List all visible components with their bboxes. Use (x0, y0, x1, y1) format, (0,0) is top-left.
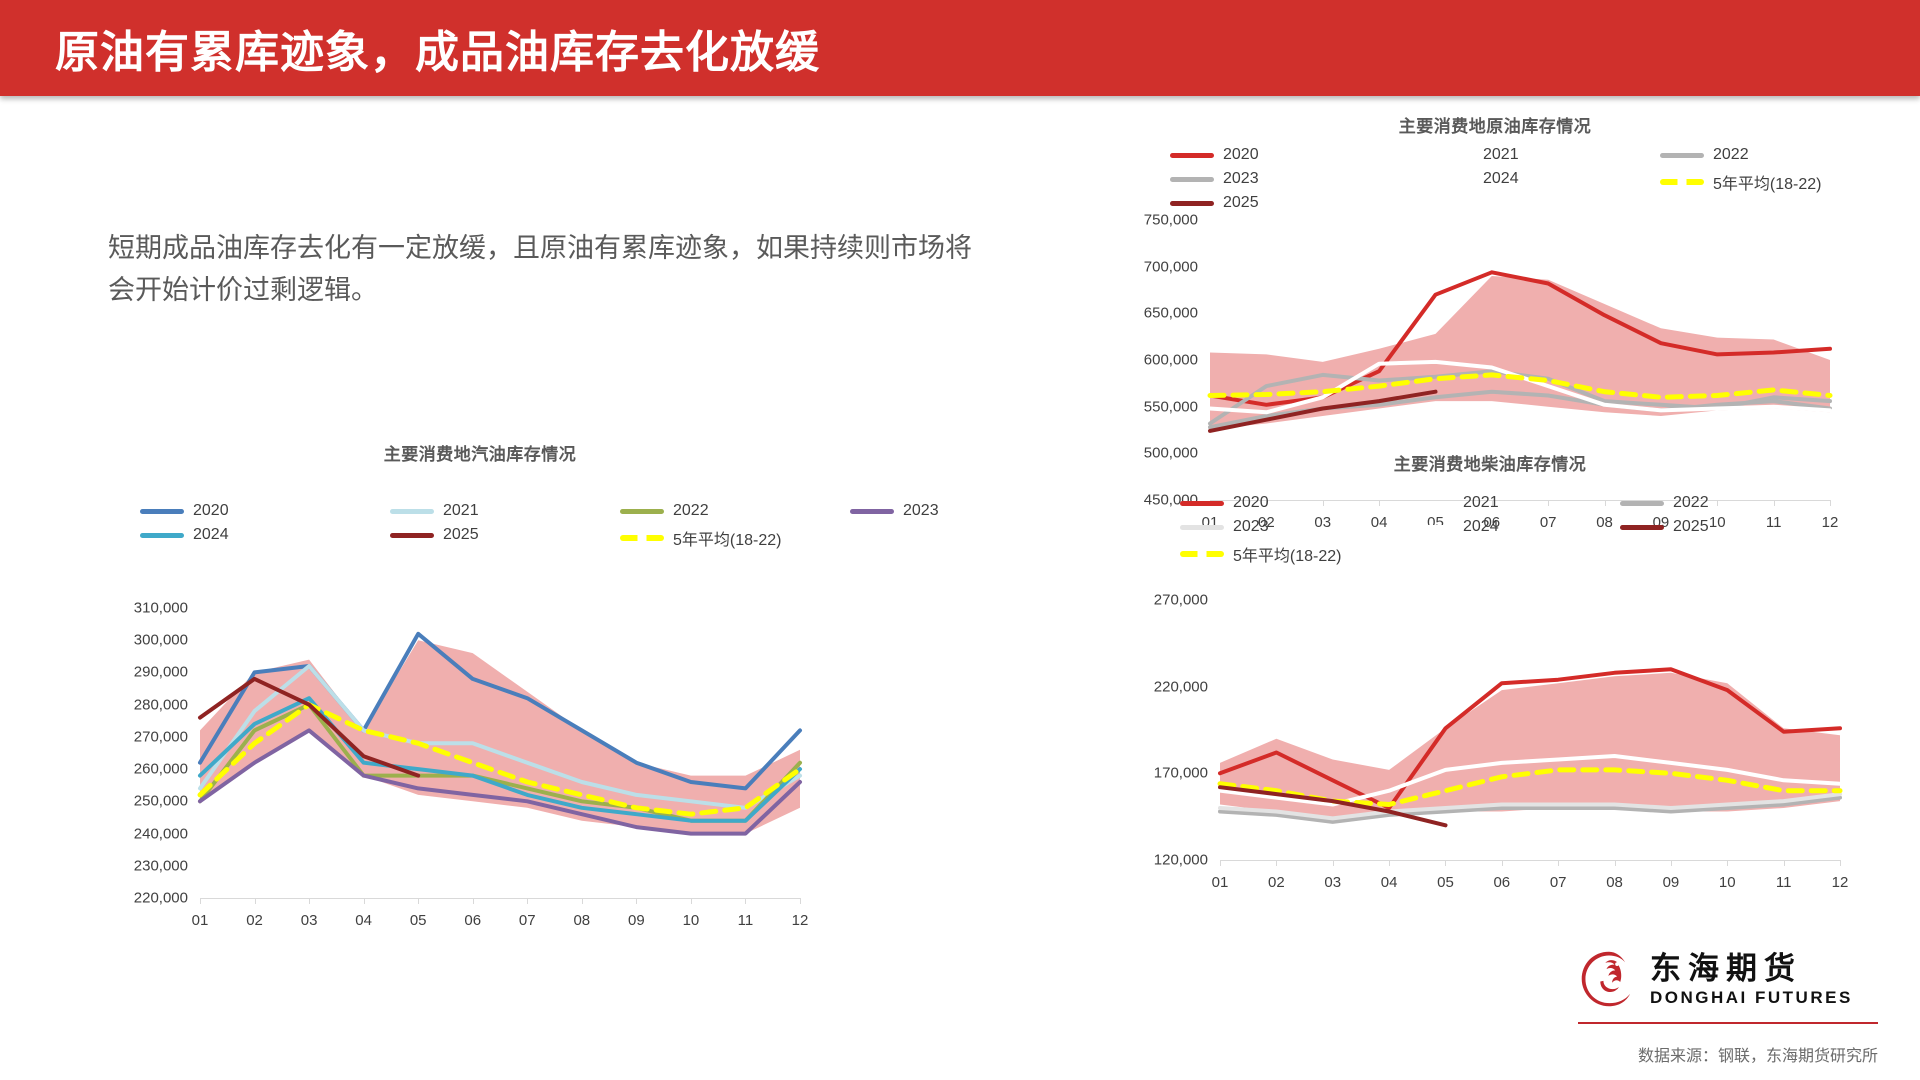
y-axis-tick-label: 230,000 (134, 857, 188, 874)
x-axis-tick-label: 05 (1437, 874, 1454, 891)
page-title: 原油有累库迹象，成品油库存去化放缓 (55, 16, 820, 80)
legend-label: 2023 (903, 502, 939, 520)
legend-item[interactable]: 2021 (1430, 146, 1519, 164)
chart-title: 主要消费地原油库存情况 (1100, 112, 1890, 137)
x-axis-tick-label: 11 (738, 912, 754, 929)
y-axis-tick-label: 650,000 (1144, 305, 1198, 322)
legend-item[interactable]: 2023 (1180, 518, 1269, 536)
legend-item[interactable]: 2020 (1180, 494, 1269, 512)
x-axis-line (200, 898, 800, 899)
x-axis-tick-label: 02 (1268, 874, 1285, 891)
legend-swatch-2024 (1430, 177, 1474, 182)
x-axis-line (1220, 860, 1840, 861)
x-axis-tick (636, 898, 637, 904)
slide-title-bar: 原油有累库迹象，成品油库存去化放缓 (0, 0, 1920, 96)
logo-english-name: DONGHAI FUTURES (1650, 989, 1853, 1006)
logo-divider (1578, 1022, 1878, 1024)
chart-plot-area: 120,000170,000220,000270,000010203040506… (1220, 600, 1840, 860)
legend-label: 2025 (1223, 194, 1259, 212)
legend-swatch-2020 (140, 509, 184, 514)
x-axis-tick (255, 898, 256, 904)
legend-item[interactable]: 2024 (140, 526, 229, 544)
legend-swatch-2024 (1410, 525, 1454, 530)
x-axis-tick (691, 898, 692, 904)
legend-item[interactable]: 2023 (850, 502, 939, 520)
legend-item[interactable]: 2020 (1170, 146, 1259, 164)
x-axis-tick (1840, 860, 1841, 866)
x-axis-tick-label: 08 (573, 912, 590, 929)
y-axis-tick-label: 220,000 (1154, 678, 1208, 695)
chart-legend: 2020202120222023202420255年平均(18-22) (60, 502, 900, 572)
legend-item[interactable]: 2025 (1170, 194, 1259, 212)
x-axis-tick (473, 898, 474, 904)
x-axis-tick-label: 05 (410, 912, 427, 929)
legend-item[interactable]: 2025 (390, 526, 479, 544)
legend-label: 2025 (1673, 518, 1709, 536)
legend-swatch-2024 (140, 533, 184, 538)
logo-wordmark: 东海期货 DONGHAI FUTURES (1650, 953, 1853, 1006)
x-axis-tick (309, 898, 310, 904)
dragon-logo-icon (1578, 948, 1640, 1010)
x-axis-tick-label: 07 (519, 912, 536, 929)
y-axis-tick-label: 170,000 (1154, 765, 1208, 782)
legend-label: 2023 (1233, 518, 1269, 536)
legend-item[interactable]: 2024 (1410, 518, 1499, 536)
x-axis-tick-label: 04 (1381, 874, 1398, 891)
legend-swatch-2025 (1170, 201, 1214, 206)
y-axis-tick-label: 310,000 (134, 600, 188, 617)
x-axis-tick-label: 02 (246, 912, 263, 929)
legend-item[interactable]: 2021 (1410, 494, 1499, 512)
y-axis-tick-label: 260,000 (134, 761, 188, 778)
legend-item[interactable]: 5年平均(18-22) (620, 526, 781, 550)
chart-plot-area: 220,000230,000240,000250,000260,000270,0… (200, 608, 800, 898)
x-axis-tick (364, 898, 365, 904)
legend-swatch-2020 (1170, 153, 1214, 158)
y-axis-tick-label: 270,000 (1154, 592, 1208, 609)
legend-label: 2022 (673, 502, 709, 520)
x-axis-tick-label: 10 (683, 912, 700, 929)
x-axis-tick (1389, 860, 1390, 866)
chart-diesel-inventory: 主要消费地柴油库存情况2020202120222023202420255年平均(… (1090, 450, 1890, 910)
x-axis-tick (745, 898, 746, 904)
chart-legend: 202020212022202320245年平均(18-22)2025 (1100, 146, 1890, 216)
legend-label: 2023 (1223, 170, 1259, 188)
x-axis-tick (1220, 860, 1221, 866)
legend-swatch-2021 (1430, 153, 1474, 158)
x-axis-tick (1445, 860, 1446, 866)
legend-label: 5年平均(18-22) (673, 526, 781, 550)
y-axis-tick-label: 120,000 (1154, 852, 1208, 869)
legend-swatch-2022 (620, 509, 664, 514)
legend-label: 2024 (193, 526, 229, 544)
x-axis-tick-label: 08 (1606, 874, 1623, 891)
x-axis-tick-label: 09 (628, 912, 645, 929)
legend-label: 2025 (443, 526, 479, 544)
legend-item[interactable]: 2023 (1170, 170, 1259, 188)
x-axis-tick-label: 03 (301, 912, 318, 929)
legend-label: 2021 (1463, 494, 1499, 512)
legend-label: 2020 (1233, 494, 1269, 512)
legend-swatch-2022 (1620, 501, 1664, 506)
x-axis-tick-label: 03 (1324, 874, 1341, 891)
x-axis-tick-label: 12 (792, 912, 809, 929)
legend-swatch-2023 (1170, 177, 1214, 182)
legend-swatch-5年平均(18-22) (1180, 551, 1224, 557)
y-axis-tick-label: 300,000 (134, 632, 188, 649)
y-axis-tick-label: 290,000 (134, 664, 188, 681)
chart-series-canvas (1220, 600, 1840, 860)
x-axis-tick (527, 898, 528, 904)
x-axis-tick (1333, 860, 1334, 866)
x-axis-tick-label: 01 (1212, 874, 1229, 891)
y-axis-tick-label: 280,000 (134, 696, 188, 713)
x-axis-tick (1727, 860, 1728, 866)
legend-label: 5年平均(18-22) (1713, 170, 1821, 194)
legend-swatch-2021 (1410, 501, 1454, 506)
y-axis-tick-label: 220,000 (134, 890, 188, 907)
chart-legend: 2020202120222023202420255年平均(18-22) (1090, 494, 1890, 564)
brand-logo: 东海期货 DONGHAI FUTURES (1578, 943, 1878, 1024)
legend-swatch-2021 (390, 509, 434, 514)
legend-swatch-5年平均(18-22) (1660, 179, 1704, 185)
x-axis-tick-label: 09 (1663, 874, 1680, 891)
legend-label: 2021 (443, 502, 479, 520)
y-axis-tick-label: 750,000 (1144, 212, 1198, 229)
x-axis-tick (1558, 860, 1559, 866)
logo-row: 东海期货 DONGHAI FUTURES (1578, 943, 1878, 1015)
x-axis-tick-label: 07 (1550, 874, 1567, 891)
x-axis-tick (1502, 860, 1503, 866)
x-axis-tick-label: 04 (355, 912, 372, 929)
x-axis-tick-label: 12 (1832, 874, 1849, 891)
y-axis-tick-label: 240,000 (134, 825, 188, 842)
legend-swatch-5年平均(18-22) (620, 535, 664, 541)
legend-item[interactable]: 2022 (620, 502, 709, 520)
legend-item[interactable]: 2025 (1620, 518, 1709, 536)
x-axis-tick (1784, 860, 1785, 866)
chart-title: 主要消费地柴油库存情况 (1090, 450, 1890, 475)
chart-title: 主要消费地汽油库存情况 (60, 440, 900, 465)
legend-item[interactable]: 2021 (390, 502, 479, 520)
legend-item[interactable]: 2022 (1620, 494, 1709, 512)
x-axis-tick-label: 01 (192, 912, 209, 929)
chart-gasoline-inventory: 主要消费地汽油库存情况2020202120222023202420255年平均(… (60, 440, 900, 940)
legend-swatch-2025 (390, 533, 434, 538)
x-axis-tick (418, 898, 419, 904)
source-note: 数据来源：钢联，东海期货研究所 (1638, 1042, 1878, 1066)
legend-label: 2024 (1483, 170, 1519, 188)
legend-label: 5年平均(18-22) (1233, 542, 1341, 566)
legend-label: 2020 (1223, 146, 1259, 164)
y-axis-tick-label: 700,000 (1144, 258, 1198, 275)
legend-item[interactable]: 2020 (140, 502, 229, 520)
legend-label: 2021 (1483, 146, 1519, 164)
chart-series-canvas (200, 608, 800, 898)
x-axis-tick-label: 10 (1719, 874, 1736, 891)
legend-item[interactable]: 2024 (1430, 170, 1519, 188)
legend-swatch-2023 (850, 509, 894, 514)
x-axis-tick (582, 898, 583, 904)
legend-swatch-2020 (1180, 501, 1224, 506)
y-axis-tick-label: 270,000 (134, 728, 188, 745)
x-axis-tick (1276, 860, 1277, 866)
legend-swatch-2022 (1660, 153, 1704, 158)
y-axis-tick-label: 550,000 (1144, 398, 1198, 415)
x-axis-tick (1671, 860, 1672, 866)
x-axis-tick (1615, 860, 1616, 866)
legend-item[interactable]: 5年平均(18-22) (1660, 170, 1821, 194)
y-axis-tick-label: 600,000 (1144, 352, 1198, 369)
x-axis-tick (200, 898, 201, 904)
x-axis-tick-label: 06 (464, 912, 481, 929)
legend-swatch-2025 (1620, 525, 1664, 530)
legend-swatch-2023 (1180, 525, 1224, 530)
legend-label: 2022 (1673, 494, 1709, 512)
logo-chinese-name: 东海期货 (1650, 953, 1853, 984)
legend-label: 2024 (1463, 518, 1499, 536)
body-paragraph: 短期成品油库存去化有一定放缓，且原油有累库迹象，如果持续则市场将会开始计价过剩逻… (108, 228, 978, 312)
x-axis-tick-label: 06 (1493, 874, 1510, 891)
legend-label: 2020 (193, 502, 229, 520)
legend-item[interactable]: 2022 (1660, 146, 1749, 164)
y-axis-tick-label: 250,000 (134, 793, 188, 810)
legend-item[interactable]: 5年平均(18-22) (1180, 542, 1341, 566)
x-axis-tick (800, 898, 801, 904)
x-axis-tick-label: 11 (1776, 874, 1792, 891)
legend-label: 2022 (1713, 146, 1749, 164)
